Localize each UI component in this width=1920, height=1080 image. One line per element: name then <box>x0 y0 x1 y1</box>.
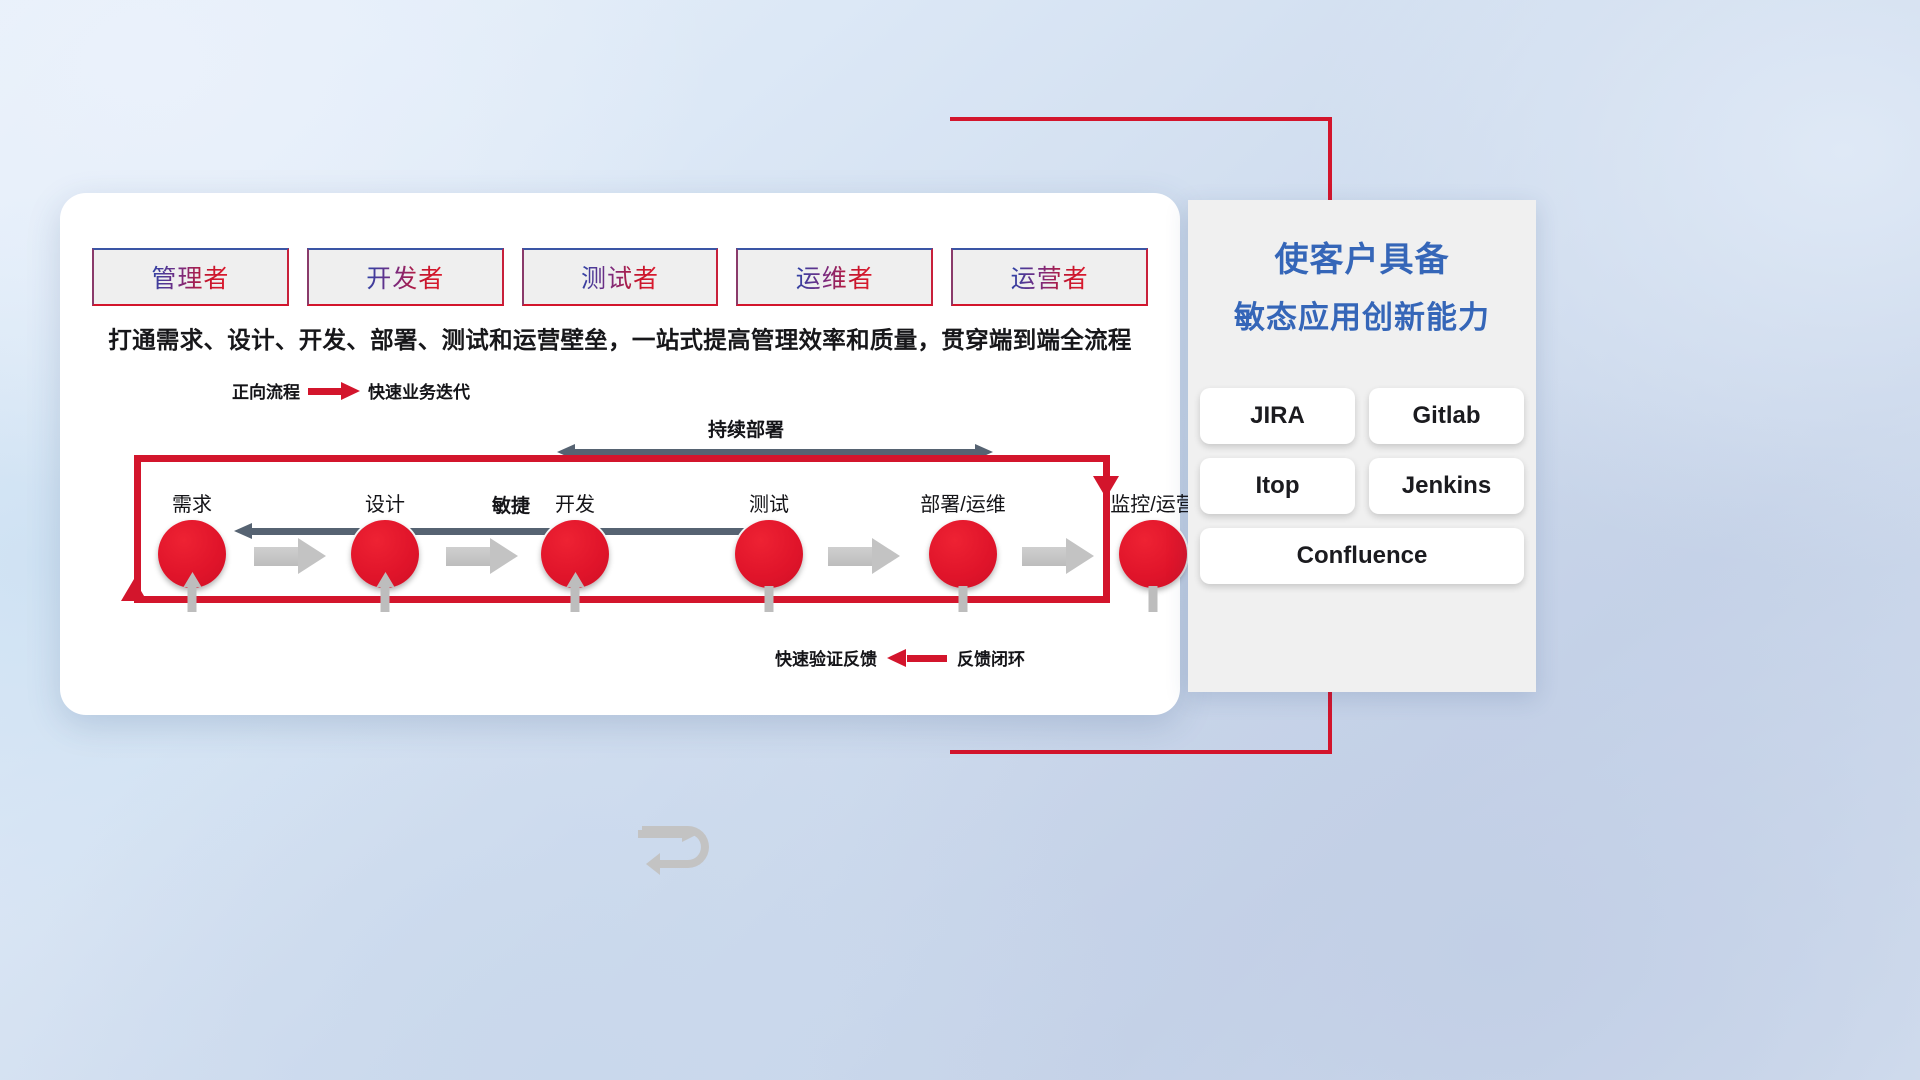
tool-chip-gitlab[interactable]: Gitlab <box>1369 388 1524 444</box>
flow-arrow-icon <box>446 538 518 574</box>
tool-chip-confluence[interactable]: Confluence <box>1200 528 1524 584</box>
role-boxes-row: 管理者 开发者 测试者 运维者 运营者 <box>92 248 1148 306</box>
node-stem <box>571 586 580 612</box>
role-label: 开发者 <box>366 259 444 295</box>
role-label: 管理者 <box>151 259 229 295</box>
pipeline-node-label: 开发 <box>555 488 595 517</box>
legend-forward-target-label: 快速业务迭代 <box>368 378 470 403</box>
role-label: 运维者 <box>796 259 874 295</box>
role-box-1[interactable]: 开发者 <box>307 248 504 306</box>
legend-feedback-target-label: 反馈闭环 <box>957 645 1025 670</box>
span-label-continuous-deployment: 持续部署 <box>708 415 784 442</box>
node-stem <box>765 586 774 612</box>
pipeline-node-label: 测试 <box>749 488 789 517</box>
legend-forward-source-label: 正向流程 <box>232 378 300 403</box>
pipeline-node-label: 监控/运营 <box>1110 488 1196 517</box>
role-box-0[interactable]: 管理者 <box>92 248 289 306</box>
cycle-loop-arrow-icon <box>636 820 724 876</box>
role-label: 测试者 <box>581 259 659 295</box>
node-stem <box>381 586 390 612</box>
role-label: 运营者 <box>1011 259 1089 295</box>
node-stem <box>959 586 968 612</box>
tool-chip-itop[interactable]: Itop <box>1200 458 1355 514</box>
main-diagram-card: 管理者 开发者 测试者 运维者 运营者 打通需求、设计、开发、部署、测试和运营壁… <box>60 193 1180 715</box>
role-box-2[interactable]: 测试者 <box>522 248 719 306</box>
pipeline-node-label: 部署/运维 <box>920 488 1006 517</box>
legend-feedback-loop: 快速验证反馈 反馈闭环 <box>775 645 1025 670</box>
arrow-left-red-icon <box>887 649 947 667</box>
node-stem <box>1149 586 1158 612</box>
role-box-3[interactable]: 运维者 <box>736 248 933 306</box>
pipeline-node-label: 需求 <box>172 488 212 517</box>
pipeline-row: 需求 设计 开发 测试 <box>60 488 1180 628</box>
node-circle-icon <box>1119 520 1187 588</box>
node-circle-icon <box>929 520 997 588</box>
flow-arrow-icon <box>254 538 326 574</box>
tool-chip-jenkins[interactable]: Jenkins <box>1369 458 1524 514</box>
tools-heading-line1: 使客户具备 <box>1188 232 1536 281</box>
tagline-text: 打通需求、设计、开发、部署、测试和运营壁垒，一站式提高管理效率和质量，贯穿端到端… <box>60 321 1180 355</box>
flow-arrow-icon <box>828 538 900 574</box>
flow-arrow-icon <box>1022 538 1094 574</box>
legend-feedback-source-label: 快速验证反馈 <box>775 645 877 670</box>
role-box-4[interactable]: 运营者 <box>951 248 1148 306</box>
tools-heading-line2: 敏态应用创新能力 <box>1188 292 1536 337</box>
tool-chip-grid: JIRA Gitlab Itop Jenkins Confluence <box>1200 388 1524 584</box>
tools-panel: 使客户具备 敏态应用创新能力 JIRA Gitlab Itop Jenkins … <box>1188 200 1536 692</box>
arrow-right-red-icon <box>308 382 360 400</box>
pipeline-node-label: 设计 <box>365 488 405 517</box>
tool-chip-jira[interactable]: JIRA <box>1200 388 1355 444</box>
node-circle-icon <box>735 520 803 588</box>
legend-forward-flow: 正向流程 快速业务迭代 <box>232 378 470 403</box>
node-stem <box>188 586 197 612</box>
